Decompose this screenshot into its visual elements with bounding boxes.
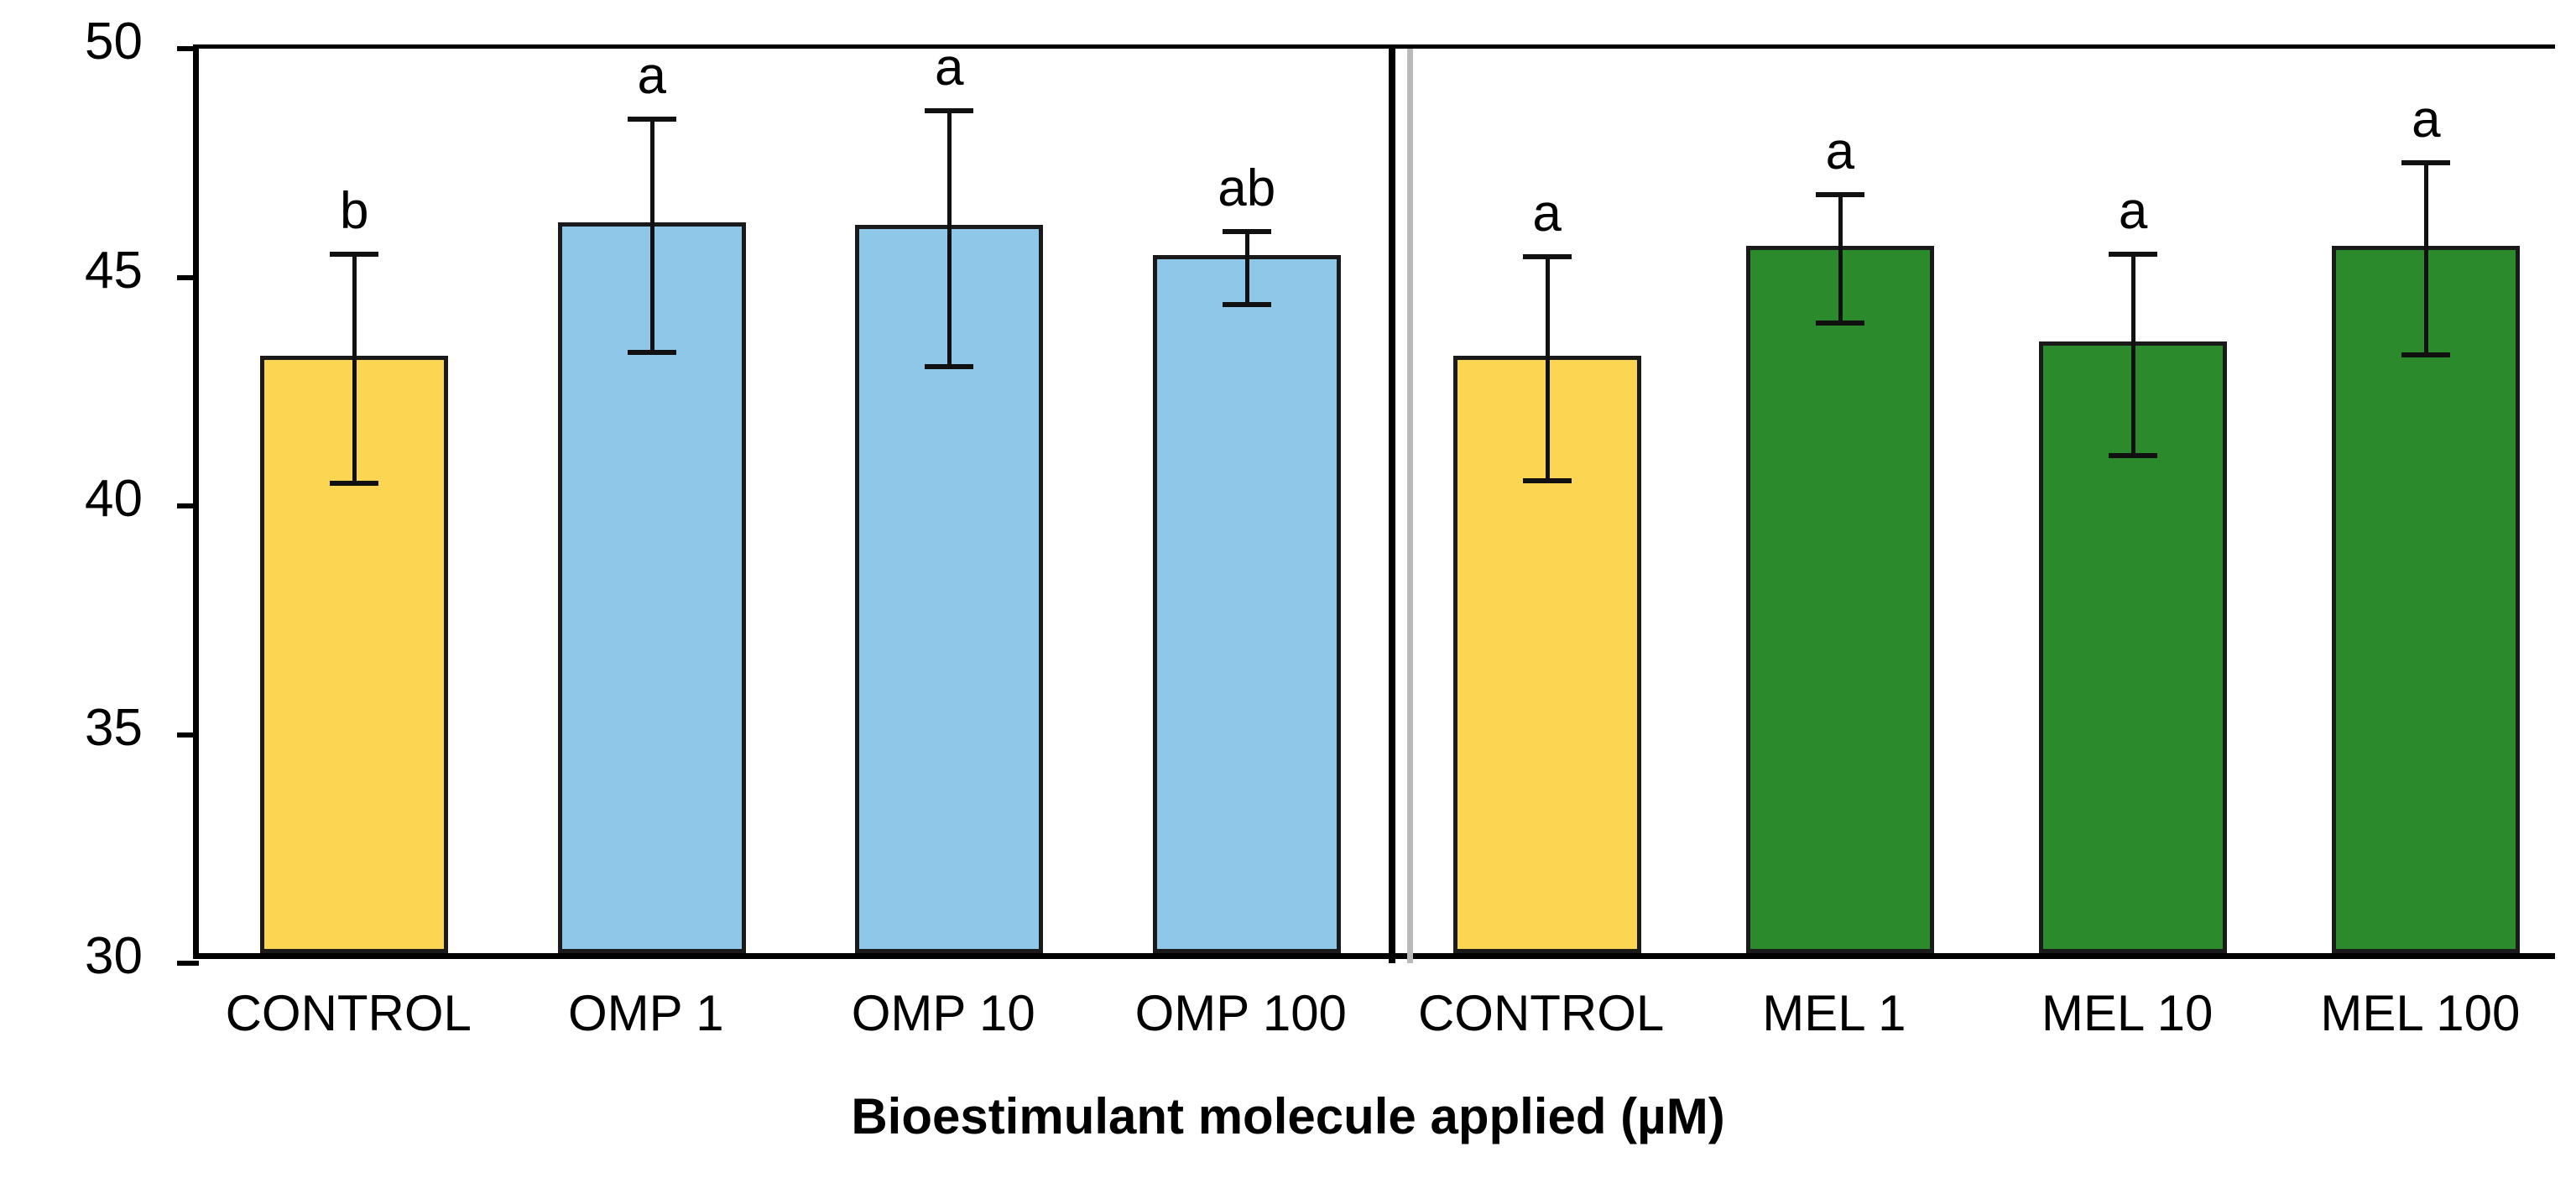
- bar: [1153, 255, 1341, 953]
- y-axis-tick: [177, 46, 199, 51]
- error-bar-cap-lower: [2401, 352, 2450, 357]
- y-axis-tick-label: 40: [25, 473, 143, 525]
- error-bar-cap-lower: [330, 481, 378, 486]
- panel-separator-dark: [1389, 49, 1395, 963]
- error-bar: [1546, 257, 1550, 481]
- error-bar: [1838, 195, 1843, 323]
- error-bar: [650, 119, 654, 352]
- y-axis-tick: [177, 961, 199, 966]
- error-bar-cap-upper: [1816, 192, 1864, 197]
- significance-letter: a: [1739, 126, 1941, 178]
- error-bar-cap-upper: [1523, 254, 1572, 259]
- x-axis-category-label: MEL 100: [2210, 988, 2576, 1039]
- error-bar-cap-upper: [330, 252, 378, 257]
- significance-letter: a: [551, 50, 753, 102]
- y-axis-tick-label: 45: [25, 245, 143, 297]
- error-bar: [947, 111, 952, 367]
- error-bar-cap-upper: [2401, 160, 2450, 165]
- significance-letter: a: [848, 42, 1050, 94]
- error-bar: [2424, 163, 2428, 355]
- error-bar: [2131, 254, 2135, 456]
- error-bar: [352, 254, 357, 483]
- error-bar-cap-upper: [628, 117, 676, 122]
- spad-values-bar-chart: SPAD values 3035404550 baaabaaaa CONTROL…: [0, 0, 2576, 1178]
- error-bar-cap-upper: [1223, 229, 1271, 234]
- y-axis-tick: [177, 732, 199, 738]
- bar: [1746, 246, 1934, 953]
- y-axis-tick-label: 35: [25, 702, 143, 754]
- error-bar: [1245, 232, 1249, 305]
- significance-letter: b: [253, 185, 455, 237]
- x-axis-title: Bioestimulant molecule applied (µM): [0, 1087, 2576, 1145]
- error-bar-cap-lower: [628, 350, 676, 355]
- y-axis-tick-label: 30: [25, 930, 143, 983]
- error-bar-cap-lower: [1223, 302, 1271, 307]
- significance-letter: ab: [1146, 163, 1348, 215]
- significance-letter: a: [2032, 185, 2234, 237]
- x-axis-category-labels: CONTROLOMP 1OMP 10OMP 100CONTROLMEL 1MEL…: [0, 983, 2576, 1050]
- error-bar-cap-lower: [925, 364, 973, 369]
- y-axis-tick: [177, 503, 199, 508]
- y-axis-tick: [177, 275, 199, 280]
- significance-letter: a: [2325, 94, 2526, 146]
- panel-separator-light: [1407, 49, 1413, 963]
- significance-letter: a: [1447, 188, 1648, 240]
- y-axis-tick-label: 50: [25, 16, 143, 68]
- error-bar-cap-lower: [2109, 453, 2157, 458]
- error-bar-cap-lower: [1523, 478, 1572, 483]
- plot-area: baaabaaaa: [193, 44, 2555, 959]
- error-bar-cap-upper: [925, 108, 973, 113]
- error-bar-cap-lower: [1816, 321, 1864, 326]
- error-bar-cap-upper: [2109, 252, 2157, 257]
